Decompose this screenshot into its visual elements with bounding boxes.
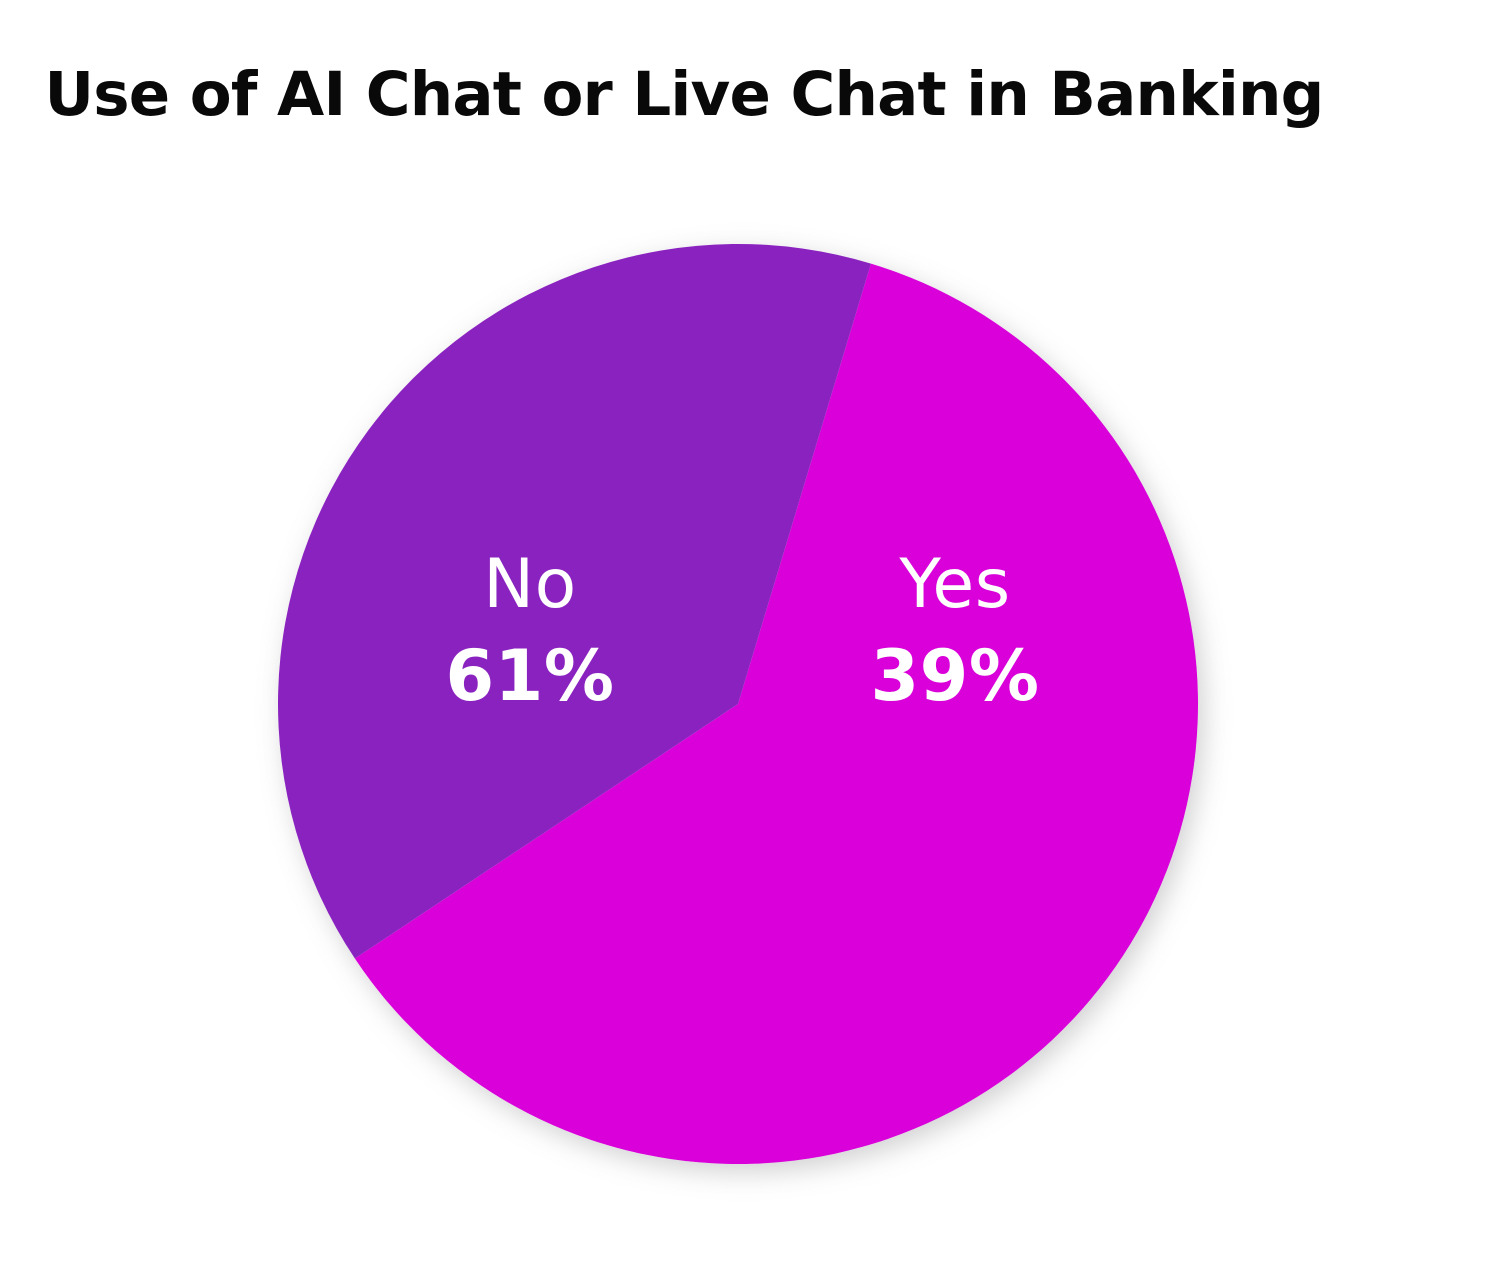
pie-chart: No 61% Yes 39%: [0, 0, 1500, 1262]
pie-svg: [0, 0, 1500, 1262]
